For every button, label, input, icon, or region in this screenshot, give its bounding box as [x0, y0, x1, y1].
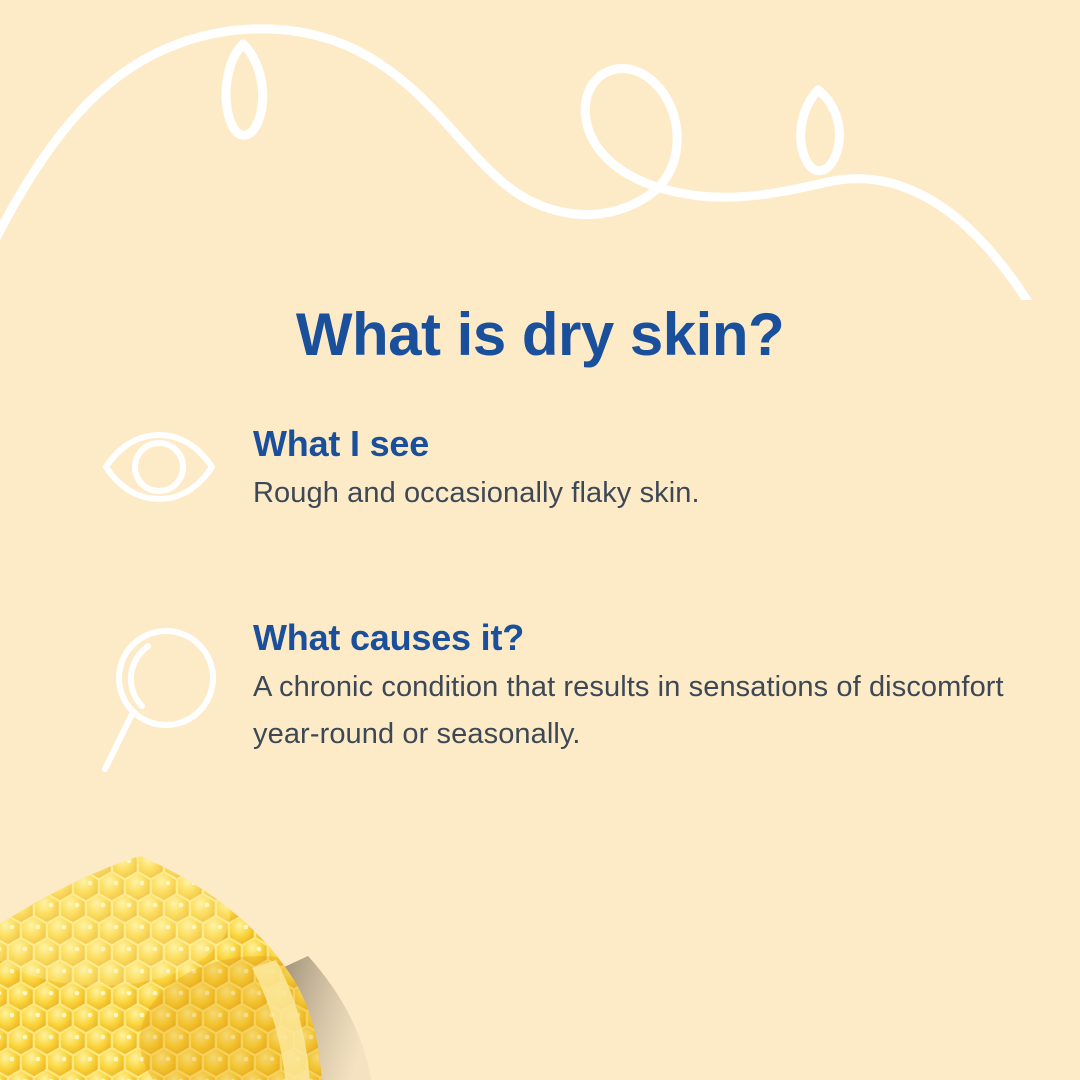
section-text-what-causes-it: What causes it? A chronic condition that…: [253, 618, 1020, 758]
magnifying-glass-icon-wrapper: [100, 618, 253, 774]
section-body: A chronic condition that results in sens…: [253, 664, 1020, 758]
top-flourish-decoration: [0, 0, 1080, 300]
dry-skin-info-card: What is dry skin? What I see Rough and o…: [0, 0, 1080, 1080]
section-body: Rough and occasionally flaky skin.: [253, 470, 1020, 517]
section-what-causes-it: What causes it? A chronic condition that…: [100, 618, 1020, 774]
eye-icon: [100, 430, 218, 504]
page-title: What is dry skin?: [0, 302, 1080, 368]
section-heading: What causes it?: [253, 618, 1020, 658]
magnifying-glass-icon: [100, 624, 222, 774]
section-what-i-see: What I see Rough and occasionally flaky …: [100, 424, 1020, 517]
section-heading: What I see: [253, 424, 1020, 464]
honeycomb-photo: [0, 856, 410, 1080]
eye-icon-wrapper: [100, 424, 253, 504]
section-text-what-i-see: What I see Rough and occasionally flaky …: [253, 424, 1020, 517]
